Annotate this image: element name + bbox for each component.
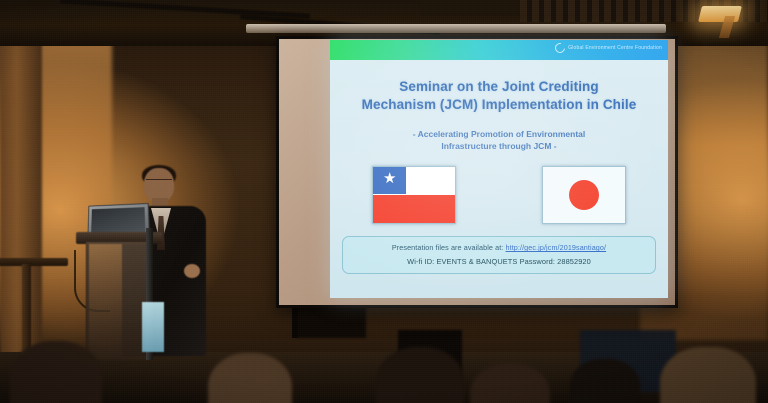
speaker-hand	[184, 264, 200, 278]
slide-title: Seminar on the Joint Crediting Mechanism…	[340, 78, 658, 114]
projected-slide: Global Environment Centre Foundation Sem…	[330, 40, 668, 298]
laptop-screen	[91, 207, 145, 234]
gec-logo: Global Environment Centre Foundation	[555, 43, 662, 53]
ceiling-light-fixture-icon	[698, 6, 742, 22]
slide-subtitle: - Accelerating Promotion of Environmenta…	[346, 128, 652, 152]
screen-roller-bar	[246, 24, 666, 33]
wifi-credentials-line: Wi-fi ID: EVENTS & BANQUETS Password: 28…	[349, 256, 649, 267]
japan-flag-sun-disc	[569, 180, 599, 210]
slide-body: Seminar on the Joint Crediting Mechanism…	[330, 60, 668, 298]
presentation-files-url[interactable]: http://gec.jp/jcm/2019santiago/	[506, 243, 607, 252]
audience-head	[376, 347, 464, 403]
flags-row	[330, 166, 668, 224]
glasses-icon	[146, 179, 172, 185]
podium-body	[86, 242, 148, 360]
slide-info-box: Presentation files are available at: htt…	[342, 236, 656, 274]
side-table-top	[0, 258, 68, 266]
podium-sign-card	[142, 302, 164, 352]
slide-subtitle-line-1: - Accelerating Promotion of Environmenta…	[346, 128, 652, 140]
audience-head	[570, 359, 640, 403]
presentation-files-line: Presentation files are available at: htt…	[349, 242, 649, 253]
gec-logo-text: Global Environment Centre Foundation	[568, 45, 662, 51]
left-pillar	[0, 0, 42, 360]
audience-head	[10, 341, 102, 403]
slide-header-band: Global Environment Centre Foundation	[330, 40, 668, 60]
japan-flag	[542, 166, 626, 224]
speaker-head	[144, 168, 174, 202]
slide-title-line-1: Seminar on the Joint Crediting	[340, 78, 658, 96]
slide-subtitle-line-2: Infrastructure through JCM -	[346, 140, 652, 152]
podium	[76, 232, 162, 360]
gec-circle-logo-icon	[553, 41, 567, 55]
slide-title-line-2: Mechanism (JCM) Implementation in Chile	[340, 96, 658, 114]
chile-flag-red-band	[373, 195, 455, 223]
audience-head	[660, 347, 756, 403]
conference-presentation-photo: Global Environment Centre Foundation Sem…	[0, 0, 768, 403]
presentation-files-label: Presentation files are available at:	[392, 243, 503, 252]
chile-flag	[372, 166, 456, 224]
